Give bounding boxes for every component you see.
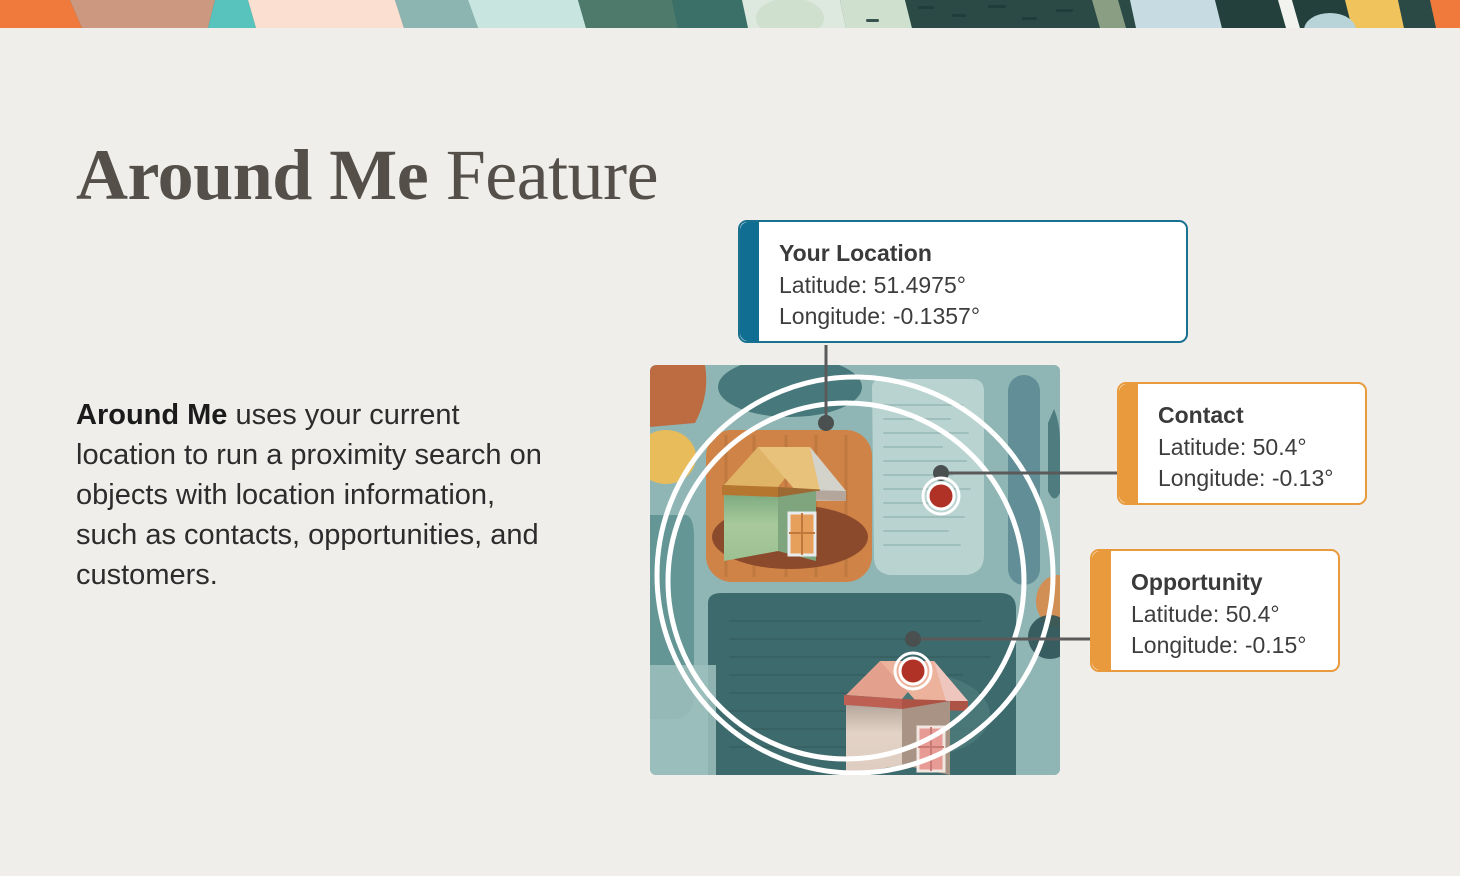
intro-paragraph: Around Me uses your current location to … — [76, 395, 546, 595]
decorative-top-band — [0, 0, 1460, 28]
callout-longitude-your-location: Longitude: -0.1357° — [779, 301, 1166, 332]
map-illustration — [650, 365, 1060, 775]
callout-accent-bar-contact — [1119, 384, 1138, 503]
page-title-regular: Feature — [428, 135, 658, 215]
callout-longitude-contact: Longitude: -0.13° — [1158, 463, 1345, 494]
callout-longitude-opportunity: Longitude: -0.15° — [1131, 630, 1318, 661]
callout-card-opportunity[interactable]: Opportunity Latitude: 50.4° Longitude: -… — [1090, 549, 1340, 672]
callout-card-contact[interactable]: Contact Latitude: 50.4° Longitude: -0.13… — [1117, 382, 1367, 505]
callout-title-contact: Contact — [1158, 400, 1345, 431]
callout-accent-bar-opportunity — [1092, 551, 1111, 670]
page-title: Around Me Feature — [76, 132, 658, 218]
callout-body-opportunity: Opportunity Latitude: 50.4° Longitude: -… — [1111, 551, 1338, 670]
callout-title-opportunity: Opportunity — [1131, 567, 1318, 598]
callout-body-contact: Contact Latitude: 50.4° Longitude: -0.13… — [1138, 384, 1365, 503]
callout-latitude-opportunity: Latitude: 50.4° — [1131, 599, 1318, 630]
callout-latitude-contact: Latitude: 50.4° — [1158, 432, 1345, 463]
callout-body-your-location: Your Location Latitude: 51.4975° Longitu… — [759, 222, 1186, 341]
intro-lead: Around Me — [76, 399, 227, 431]
callout-title-your-location: Your Location — [779, 238, 1166, 269]
page-title-bold: Around Me — [76, 135, 428, 215]
callout-card-your-location[interactable]: Your Location Latitude: 51.4975° Longitu… — [738, 220, 1188, 343]
callout-accent-bar-your-location — [740, 222, 759, 341]
callout-latitude-your-location: Latitude: 51.4975° — [779, 270, 1166, 301]
